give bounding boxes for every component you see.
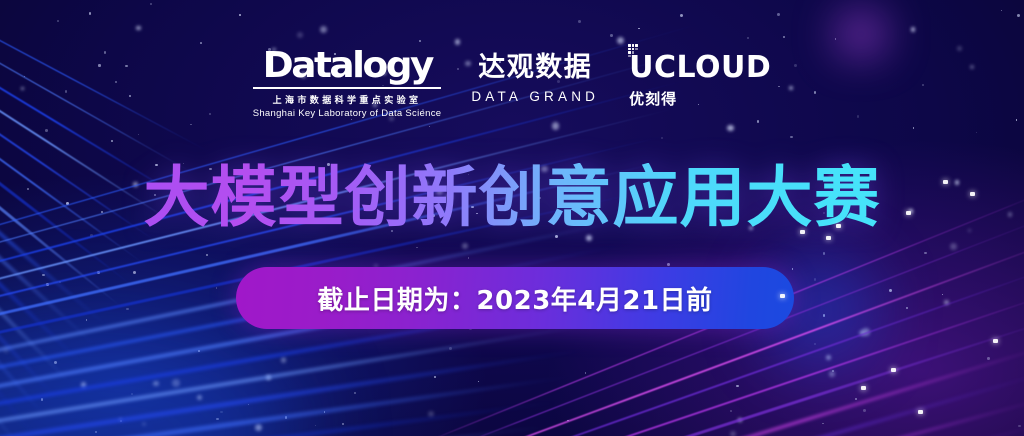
- ray-head-spark: [891, 368, 896, 372]
- glow-blob-bottom-left-blue: [0, 330, 300, 436]
- logo-datalogy: Datalogy 上海市数据科学重点实验室 Shanghai Key Labor…: [253, 48, 442, 119]
- deadline-badge: 截止日期为：2023年4月21日前: [236, 267, 794, 329]
- deadline-text: 截止日期为：2023年4月21日前: [317, 280, 712, 317]
- promo-banner: Datalogy 上海市数据科学重点实验室 Shanghai Key Labor…: [0, 0, 1024, 436]
- ray-head-spark: [993, 339, 998, 343]
- datalogy-en-subtitle: Shanghai Key Laboratory of Data Science: [253, 108, 442, 119]
- ucloud-wordmark: UCLOUD: [629, 52, 771, 84]
- ucloud-cn-name: 优刻得: [629, 88, 771, 109]
- datalogy-cn-subtitle: 上海市数据科学重点实验室: [253, 93, 442, 106]
- datalogy-divider: [253, 87, 442, 89]
- ray-head-spark: [826, 236, 831, 240]
- ray-head-spark: [861, 386, 866, 390]
- ray-head-spark: [906, 211, 911, 215]
- sponsor-logo-row: Datalogy 上海市数据科学重点实验室 Shanghai Key Labor…: [0, 48, 1024, 120]
- ray-head-spark: [970, 192, 975, 196]
- logo-ucloud: UCLOUD 优刻得: [629, 48, 771, 109]
- pixel-grid-icon: [628, 44, 641, 57]
- datalogy-wordmark: Datalogy: [249, 48, 445, 84]
- datagrand-en-name: DATA GRAND: [471, 89, 599, 104]
- datagrand-cn-name: 达观数据: [471, 52, 599, 82]
- ray-head-spark: [780, 294, 785, 298]
- ray-head-spark: [918, 410, 923, 414]
- logo-data-grand: 达观数据 DATA GRAND: [471, 48, 599, 104]
- page-title: 大模型创新创意应用大赛: [0, 163, 1024, 233]
- ray-head-spark: [836, 224, 841, 228]
- ray-head-spark: [800, 230, 805, 234]
- ray-head-spark: [943, 180, 948, 184]
